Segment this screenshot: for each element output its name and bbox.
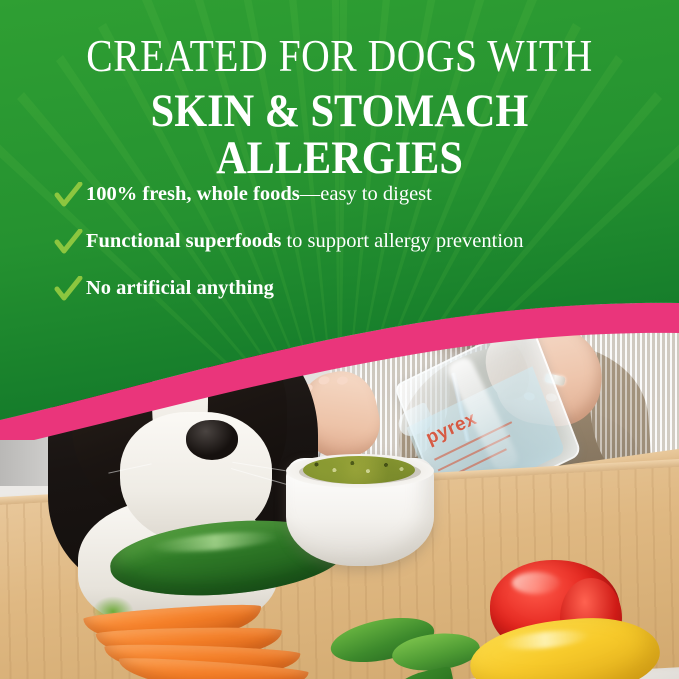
benefit-list: 100% fresh, whole foods—easy to digest F… — [54, 182, 654, 323]
check-icon — [54, 182, 86, 210]
benefit-text-bold: Functional superfoods — [86, 230, 281, 252]
check-icon — [54, 229, 86, 257]
benefit-text-rest: —easy to digest — [300, 183, 432, 205]
benefit-text: Functional superfoods to support allergy… — [86, 229, 524, 254]
benefit-text-bold: 100% fresh, whole foods — [86, 183, 300, 205]
headline-line-1: CREATED FOR DOGS WITH — [41, 34, 639, 79]
pepper-highlight — [512, 572, 560, 594]
list-item: Functional superfoods to support allergy… — [54, 229, 654, 257]
headline-line-2: SKIN & STOMACH ALLERGIES — [34, 88, 645, 182]
benefit-text: 100% fresh, whole foods—easy to digest — [86, 182, 432, 207]
benefit-text-bold: No artificial anything — [86, 277, 274, 299]
check-icon — [54, 276, 86, 304]
benefit-text: No artificial anything — [86, 276, 274, 301]
headline-and-bullets: CREATED FOR DOGS WITH SKIN & STOMACH ALL… — [0, 0, 679, 330]
list-item: 100% fresh, whole foods—easy to digest — [54, 182, 654, 210]
list-item: No artificial anything — [54, 276, 654, 304]
benefit-text-rest: to support allergy prevention — [281, 230, 523, 252]
product-feature-banner: pyrex — [0, 0, 679, 679]
dog-food-texture — [303, 454, 415, 480]
